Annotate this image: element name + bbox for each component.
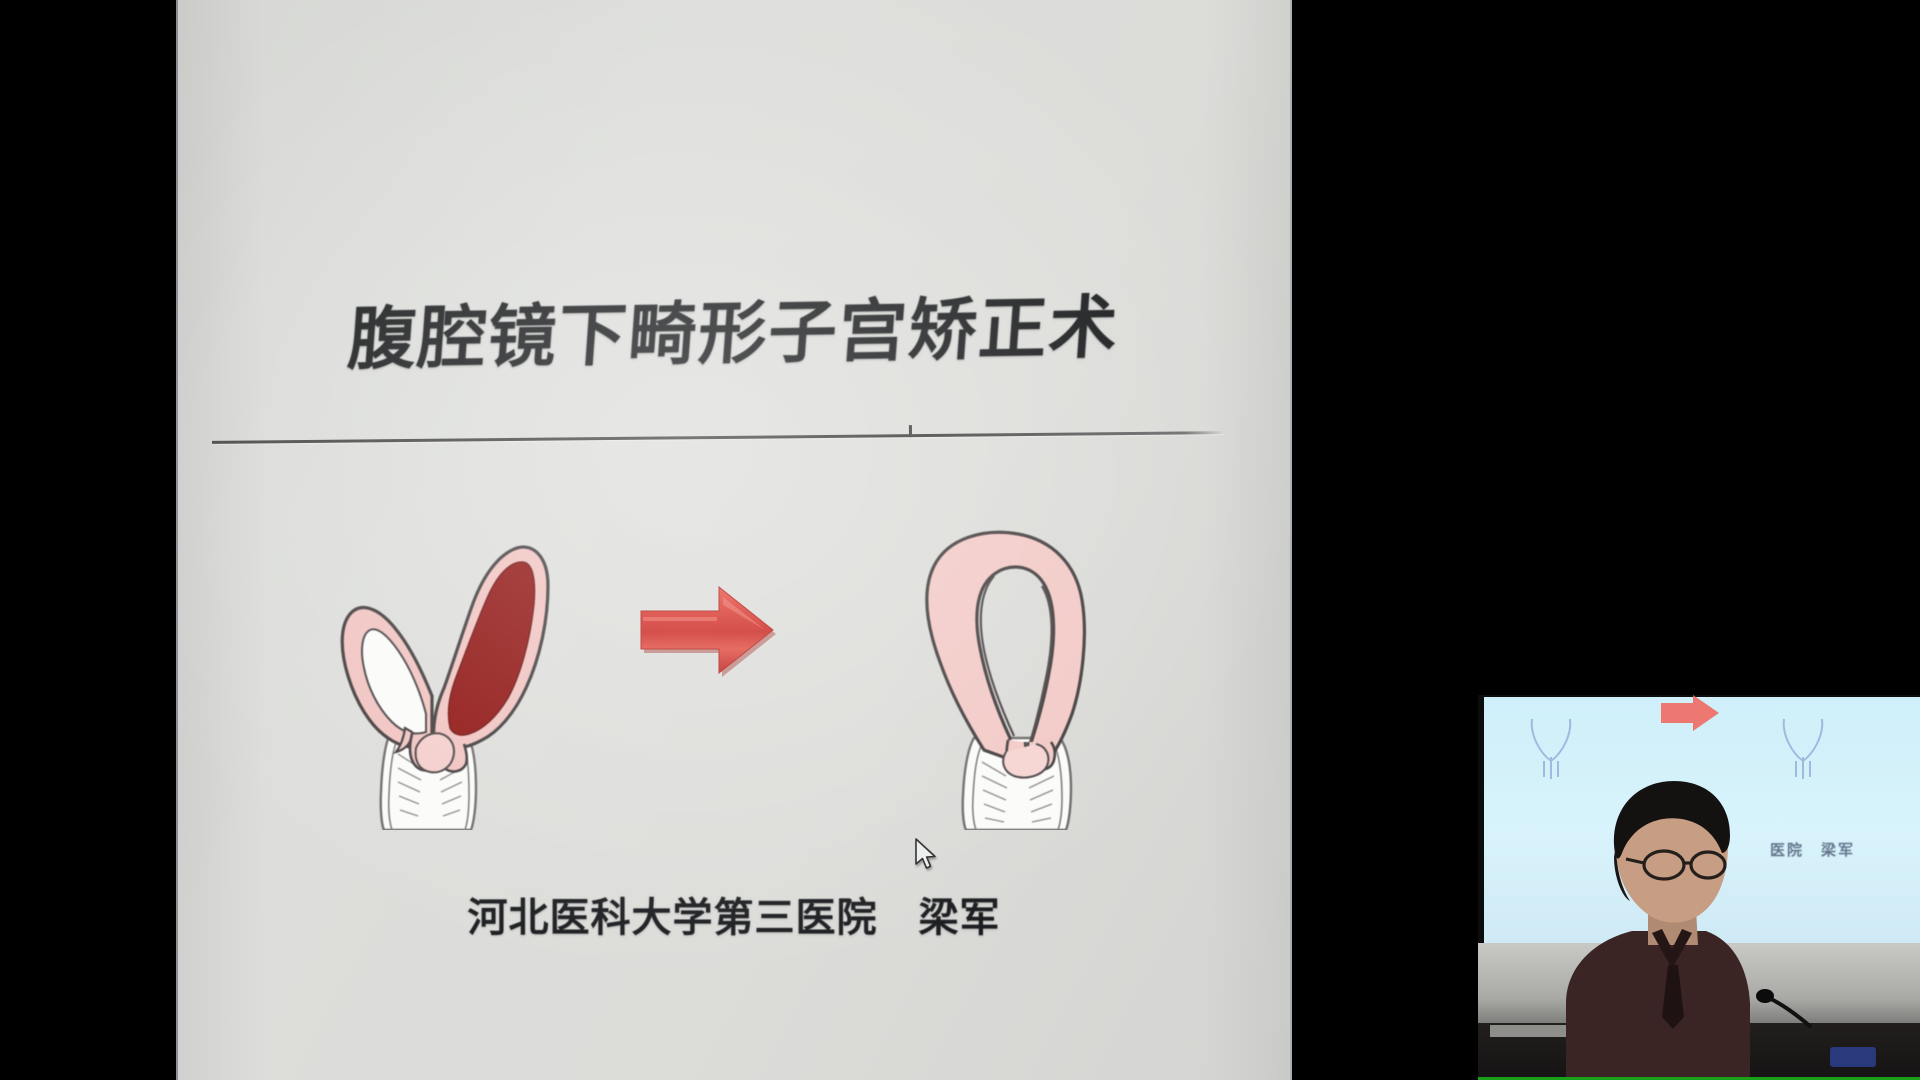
slide-title: 腹腔镜下畸形子宫矫正术 <box>176 269 1292 386</box>
mouse-pointer-icon <box>914 838 940 874</box>
divider-tick-mark <box>909 425 912 437</box>
divider-line <box>212 431 1224 444</box>
title-divider <box>212 419 1224 455</box>
figure-row <box>176 500 1292 830</box>
corrected-uterus-diagram <box>866 500 1166 835</box>
malformed-uterus-diagram <box>286 500 586 835</box>
slide-byline: 河北医科大学第三医院 梁军 <box>176 885 1292 943</box>
pip-arrow-icon <box>1659 695 1721 735</box>
player-stage: 腹腔镜下畸形子宫矫正术 <box>0 0 1920 1080</box>
pip-microphone-icon <box>1753 987 1823 1029</box>
pip-desk-object <box>1830 1047 1876 1067</box>
red-transformation-arrow <box>631 575 781 700</box>
pip-presenter <box>1556 773 1786 1080</box>
slide-canvas[interactable]: 腹腔镜下畸形子宫矫正术 <box>176 0 1292 1080</box>
presenter-video-pip[interactable]: 医院 梁军 <box>1478 695 1920 1080</box>
